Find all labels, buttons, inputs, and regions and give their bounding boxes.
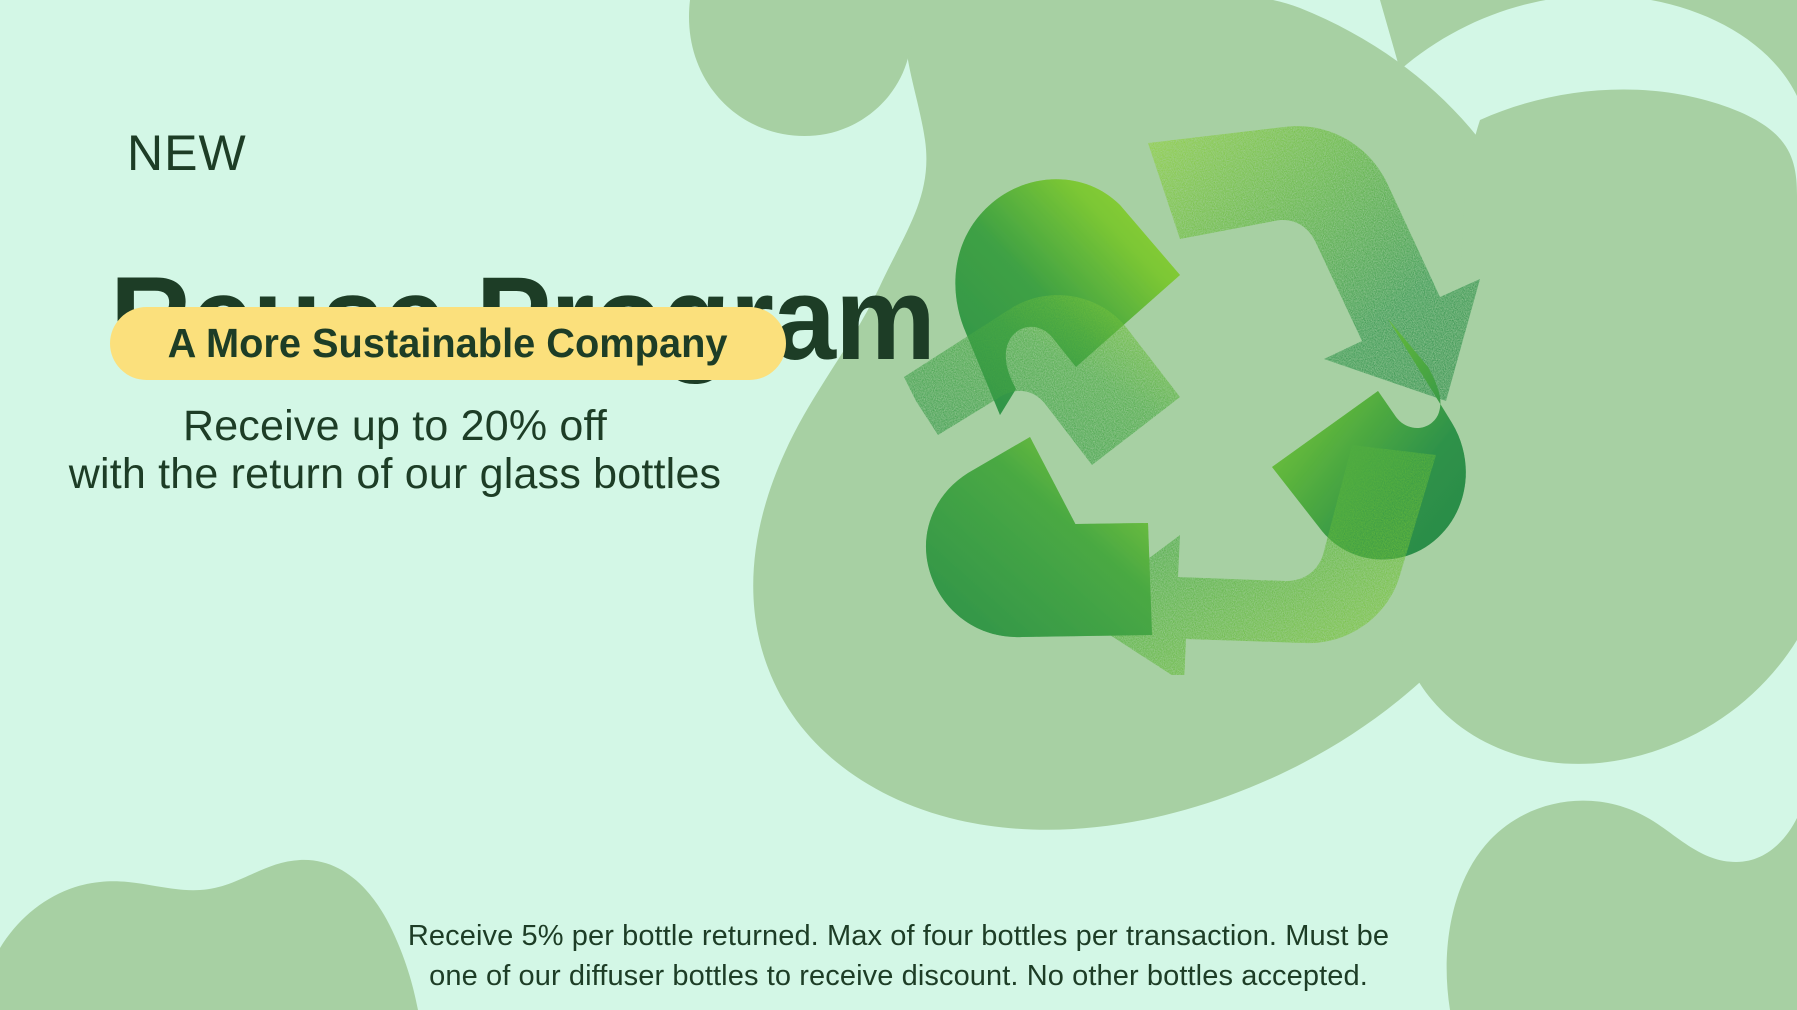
blob-top-right [1380, 0, 1797, 96]
offer-line-1: Receive up to 20% off [0, 402, 790, 450]
recycle-arrow-bottom-left [926, 437, 1152, 637]
recycling-symbol-svg [880, 105, 1500, 675]
tagline-badge-label: A More Sustainable Company [168, 320, 728, 367]
recycling-symbol [880, 105, 1500, 675]
recycle-arrow-top-right [1148, 126, 1480, 401]
tagline-badge: A More Sustainable Company [110, 307, 786, 380]
promo-poster: NEW Reuse Program A More Sustainable Com… [0, 0, 1797, 1010]
fineprint-line-1: Receive 5% per bottle returned. Max of f… [0, 916, 1797, 956]
recycle-arrow-left [904, 295, 1180, 465]
fineprint-line-2: one of our diffuser bottles to receive d… [0, 956, 1797, 996]
text-content: NEW Reuse Program A More Sustainable Com… [0, 0, 900, 1010]
eyebrow-label: NEW [127, 128, 247, 178]
offer-description: Receive up to 20% off with the return of… [0, 402, 790, 498]
fineprint-disclaimer: Receive 5% per bottle returned. Max of f… [0, 916, 1797, 996]
offer-line-2: with the return of our glass bottles [0, 450, 790, 498]
